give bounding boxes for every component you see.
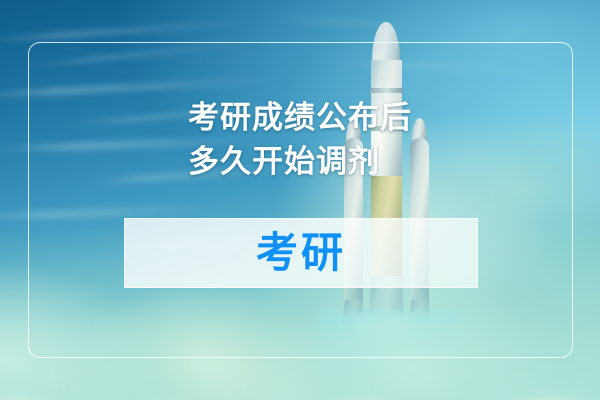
decorative-frame-border <box>28 42 573 358</box>
banner-title-line-2: 多久开始调剂 <box>188 140 412 184</box>
article-thumbnail-banner: 考研成绩公布后 多久开始调剂 考研 <box>0 0 600 400</box>
banner-title: 考研成绩公布后 多久开始调剂 <box>188 96 412 184</box>
category-tag-label: 考研 <box>256 232 346 274</box>
smoke-lumps <box>0 377 600 400</box>
banner-title-line-1: 考研成绩公布后 <box>188 96 412 140</box>
category-tag-box[interactable]: 考研 <box>124 218 478 288</box>
